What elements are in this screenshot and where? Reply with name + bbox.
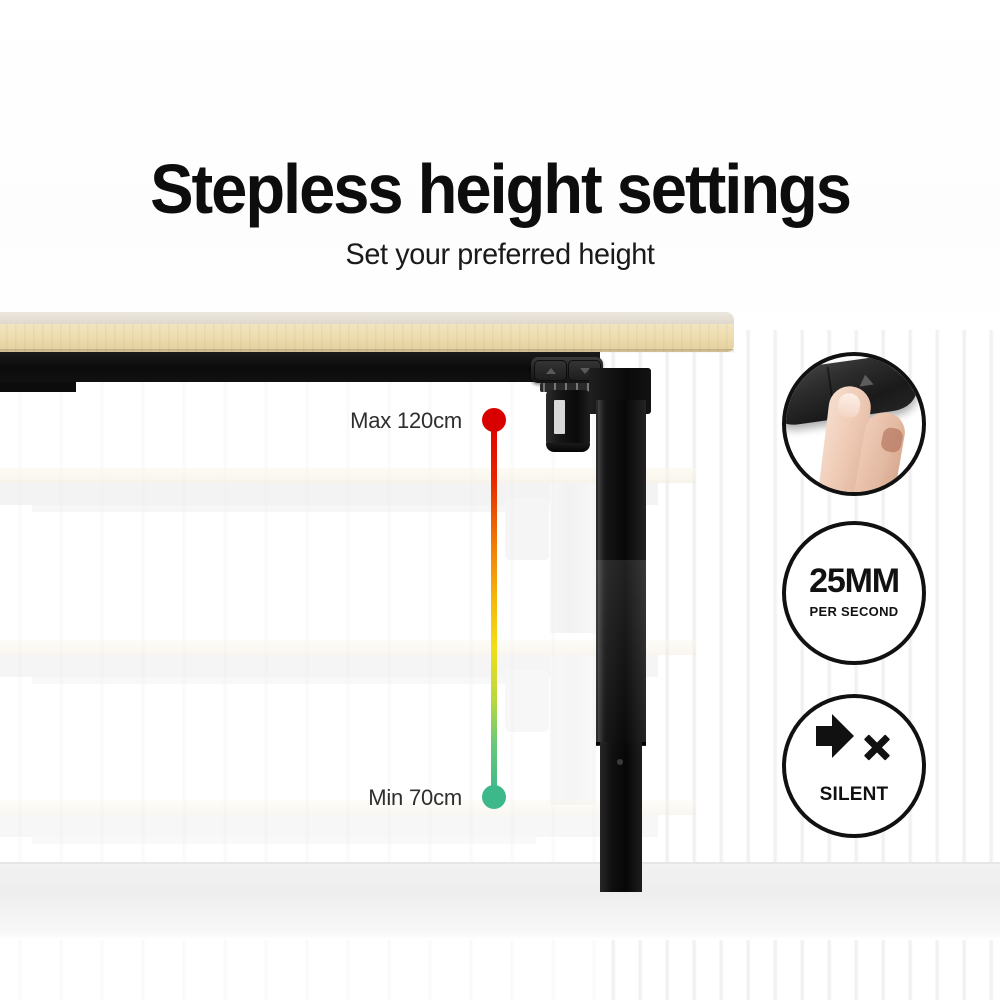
min-height-label: Min 70cm — [200, 786, 462, 810]
arrow-up-icon — [546, 368, 556, 374]
leg-highlight — [598, 400, 604, 746]
badge-lift-speed: 25MM PER SECOND — [782, 521, 926, 665]
product-feature-image: Stepless height settings Set your prefer… — [0, 0, 1000, 1000]
speaker-cone-icon — [832, 714, 854, 758]
desk-edge — [0, 324, 734, 352]
lift-motor — [546, 390, 590, 448]
max-height-marker — [482, 408, 506, 432]
speed-value: 25MM — [786, 563, 922, 599]
page-title: Stepless height settings — [35, 152, 965, 226]
floor-wall-line — [0, 862, 1000, 864]
page-subtitle: Set your preferred height — [20, 238, 980, 272]
min-height-marker — [482, 785, 506, 809]
max-height-label: Max 120cm — [200, 409, 462, 433]
height-range-gradient-line — [491, 424, 497, 796]
desk-frame-rail — [0, 352, 600, 382]
badge-remote-control — [782, 352, 926, 496]
motor-cap — [546, 443, 590, 452]
arrow-down-icon — [580, 368, 590, 374]
desk-frame-bracket-left — [0, 382, 76, 392]
raise-button[interactable] — [534, 360, 567, 381]
mute-cross-icon — [862, 732, 892, 762]
leg-screw — [617, 759, 623, 765]
floor — [0, 862, 1000, 940]
silent-label: SILENT — [786, 784, 922, 805]
motor-label-sticker — [554, 400, 565, 434]
speed-unit: PER SECOND — [786, 604, 922, 619]
badge-silent-operation: SILENT — [782, 694, 926, 838]
